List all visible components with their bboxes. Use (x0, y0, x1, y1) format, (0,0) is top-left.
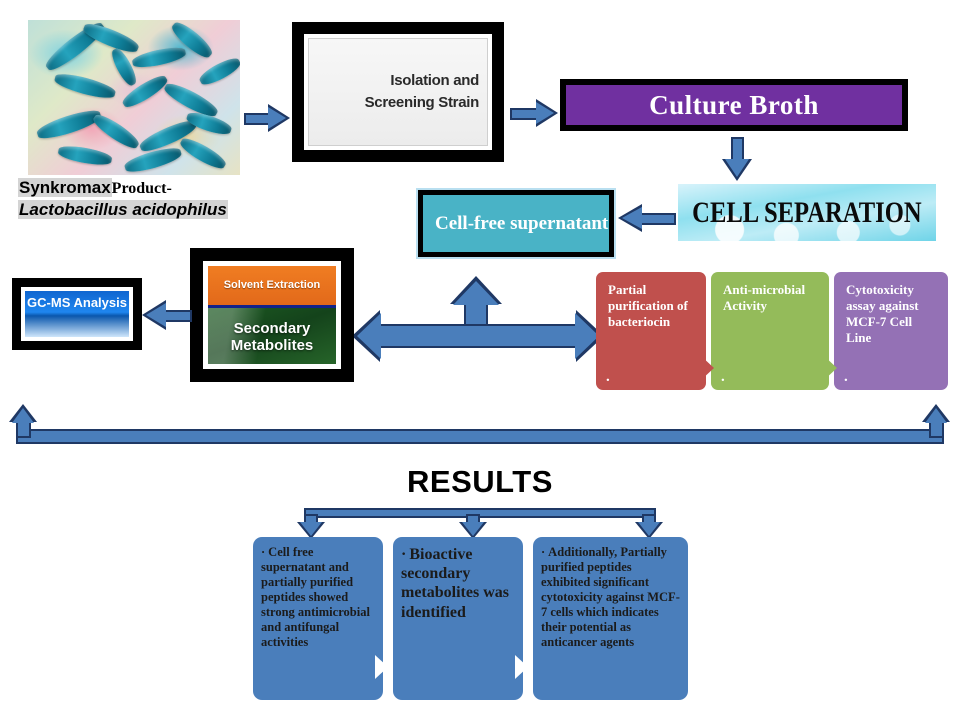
cell-free-supernatant-box: Cell-free supernatant (418, 190, 614, 257)
arrow-tee-three-way (352, 272, 604, 372)
result-box-cytotoxicity: ·Additionally, Partially purified peptid… (533, 537, 688, 700)
arrow-isolation-to-broth (510, 99, 560, 127)
gcms-mat: GC-MS Analysis (21, 287, 133, 341)
chevron-result-1-to-2 (515, 655, 528, 679)
cell-free-supernatant-label: Cell-free supernatant (435, 211, 609, 237)
solvent-extraction-band: Solvent Extraction (208, 266, 336, 308)
metabolites-inner: Solvent Extraction Secondary Metabolites (208, 266, 336, 364)
assay-box-antimicrobial: Anti-microbial Activity . (711, 272, 829, 390)
solvent-extraction-label: Solvent Extraction (224, 280, 321, 292)
chevron-assay-0-to-1 (700, 355, 714, 381)
result-box-metabolites: ·Bioactive secondary metabolites was ide… (393, 537, 523, 700)
feedback-connector (8, 404, 952, 448)
secondary-metabolites-card: Solvent Extraction Secondary Metabolites (190, 248, 354, 382)
arrow-photo-to-isolation (244, 104, 292, 132)
caption-species-line: Lactobacillus acidophilus (18, 200, 228, 220)
cell-separation-label: CELL SEPARATION (692, 196, 921, 230)
result-text-1: Bioactive secondary metabolites was iden… (401, 546, 509, 621)
gcms-inner: GC-MS Analysis (25, 291, 129, 337)
result-text-2: Additionally, Partially purified peptide… (541, 545, 680, 649)
cell-separation-image: CELL SEPARATION (678, 184, 936, 241)
culture-broth-label: Culture Broth (649, 90, 819, 121)
secondary-metabolites-label: Secondary Metabolites (208, 321, 336, 354)
assay-label-2: Cytotoxicity assay against MCF-7 Cell Li… (846, 282, 919, 345)
arrow-metabolites-to-gcms (142, 300, 192, 330)
assay-label-0: Partial purification of bacteriocin (608, 282, 688, 329)
result-box-antimicrobial: ·Cell free supernatant and partially pur… (253, 537, 383, 700)
isolation-label: Isolation and Screening Strain (317, 70, 479, 114)
culture-broth-banner: Culture Broth (560, 79, 908, 131)
result-bullet-0: · (261, 545, 265, 559)
results-branch-connector (280, 508, 680, 540)
chevron-assay-1-to-2 (823, 355, 837, 381)
result-bullet-2: · (541, 545, 545, 559)
arrow-separation-to-supernatant (618, 204, 676, 232)
isolation-screening-card: Isolation and Screening Strain (292, 22, 504, 162)
caption-product-word: Product- (112, 180, 172, 197)
caption-species: Lactobacillus acidophilus (18, 200, 228, 219)
metabolites-mat: Solvent Extraction Secondary Metabolites (203, 261, 341, 369)
assay-box-cytotoxicity: Cytotoxicity assay against MCF-7 Cell Li… (834, 272, 948, 390)
isolation-mat: Isolation and Screening Strain (304, 34, 492, 150)
assay-label-1: Anti-microbial Activity (723, 282, 805, 313)
result-text-0: Cell free supernatant and partially puri… (261, 545, 370, 649)
results-title: RESULTS (0, 464, 960, 500)
assay-box-partial-purification: Partial purification of bacteriocin . (596, 272, 706, 390)
isolation-inner: Isolation and Screening Strain (308, 38, 488, 146)
chevron-result-0-to-1 (375, 655, 388, 679)
caption-product-line: SynkromaxProduct- (18, 178, 172, 198)
result-bullet-1: · (401, 546, 406, 563)
gcms-label: GC-MS Analysis (27, 295, 127, 310)
arrow-broth-to-separation (722, 137, 752, 181)
gcms-analysis-card: GC-MS Analysis (12, 278, 142, 350)
caption-brand: Synkromax (18, 178, 112, 197)
metabolites-panel: Secondary Metabolites (208, 308, 336, 364)
bacteria-micrograph-image (28, 20, 240, 175)
